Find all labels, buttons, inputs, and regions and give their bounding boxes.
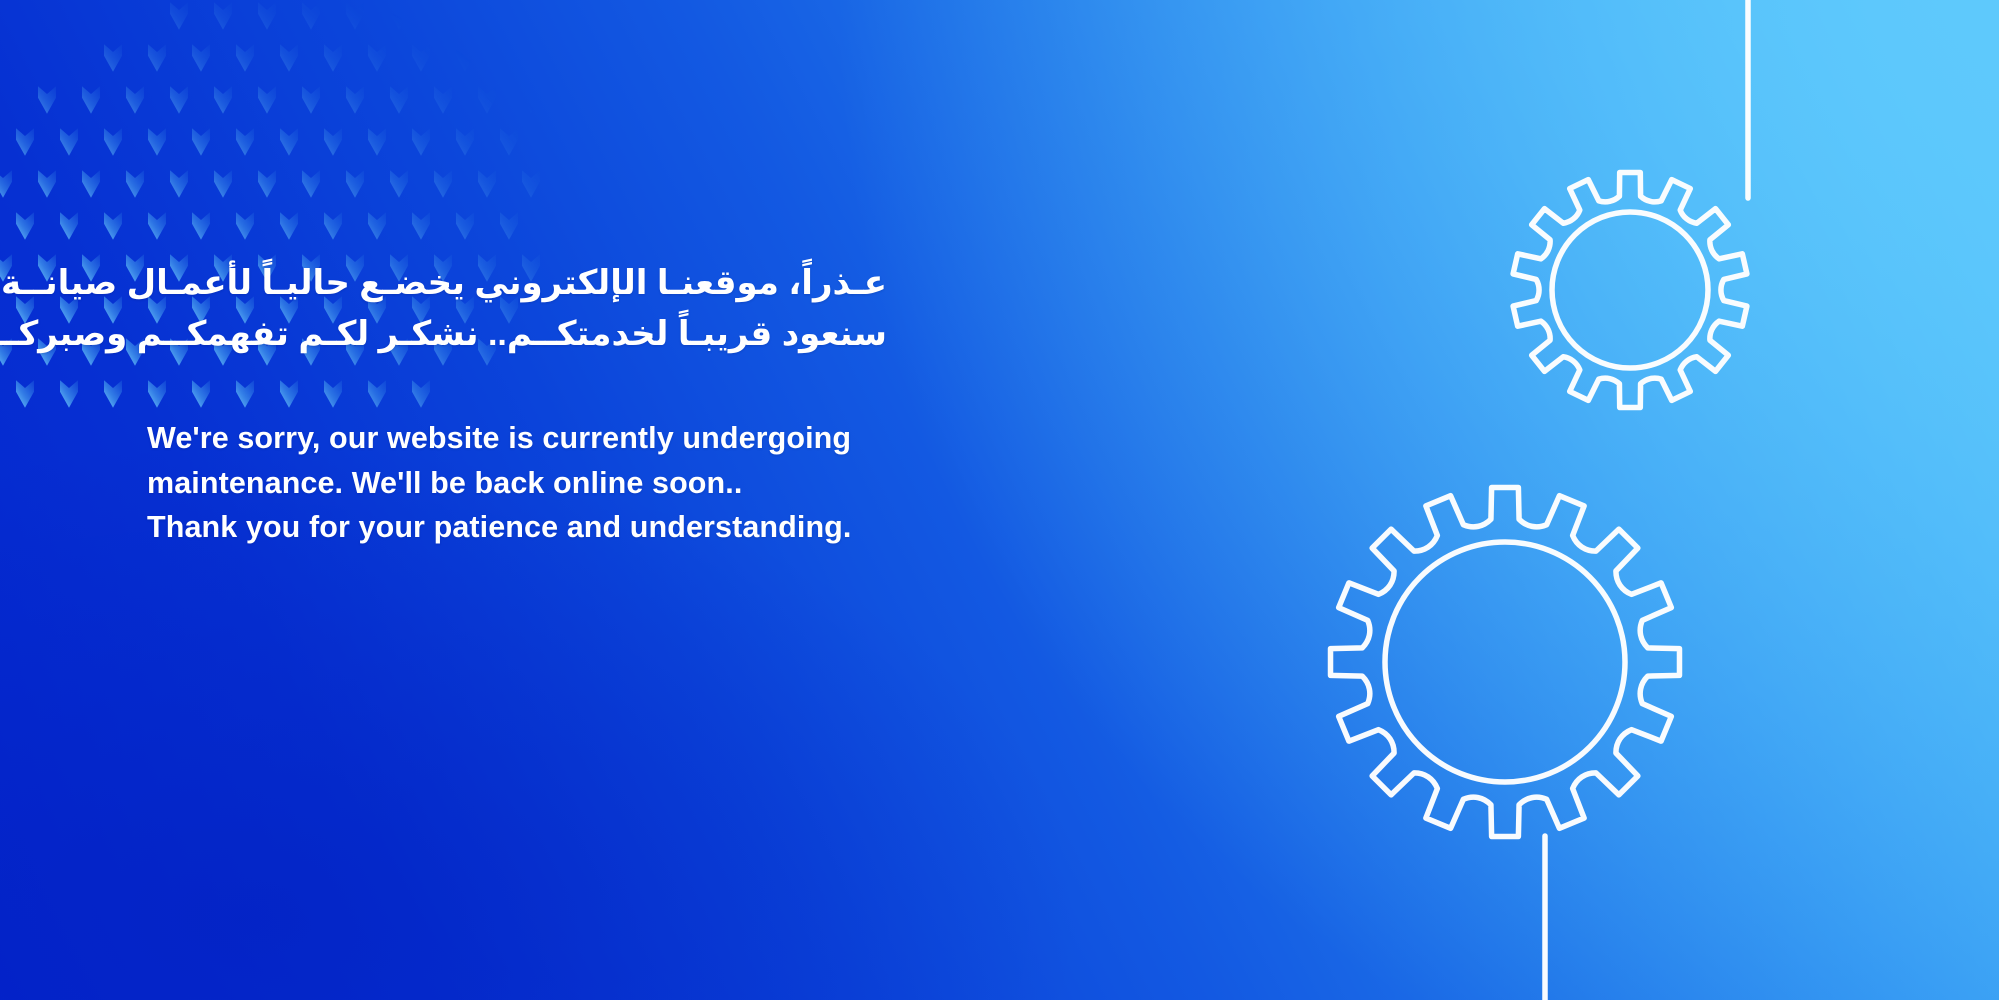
english-message: We're sorry, our website is currently un… [147, 416, 1127, 550]
arabic-line-2: سنعود قريبـاً لخدمتكــم.. نشكـر لكـم تفه… [147, 309, 887, 360]
maintenance-page: عـذراً، موقعنـا الإلكتروني يخضـع حاليـاً… [0, 0, 1999, 1000]
arabic-line-1: عـذراً، موقعنـا الإلكتروني يخضـع حاليـاً… [147, 258, 887, 309]
english-line-3: Thank you for your patience and understa… [147, 505, 1127, 550]
english-line-2: maintenance. We'll be back online soon.. [147, 461, 1127, 506]
message-block: عـذراً، موقعنـا الإلكتروني يخضـع حاليـاً… [147, 258, 1127, 550]
english-line-1: We're sorry, our website is currently un… [147, 416, 1127, 461]
arabic-message: عـذراً، موقعنـا الإلكتروني يخضـع حاليـاً… [147, 258, 887, 360]
